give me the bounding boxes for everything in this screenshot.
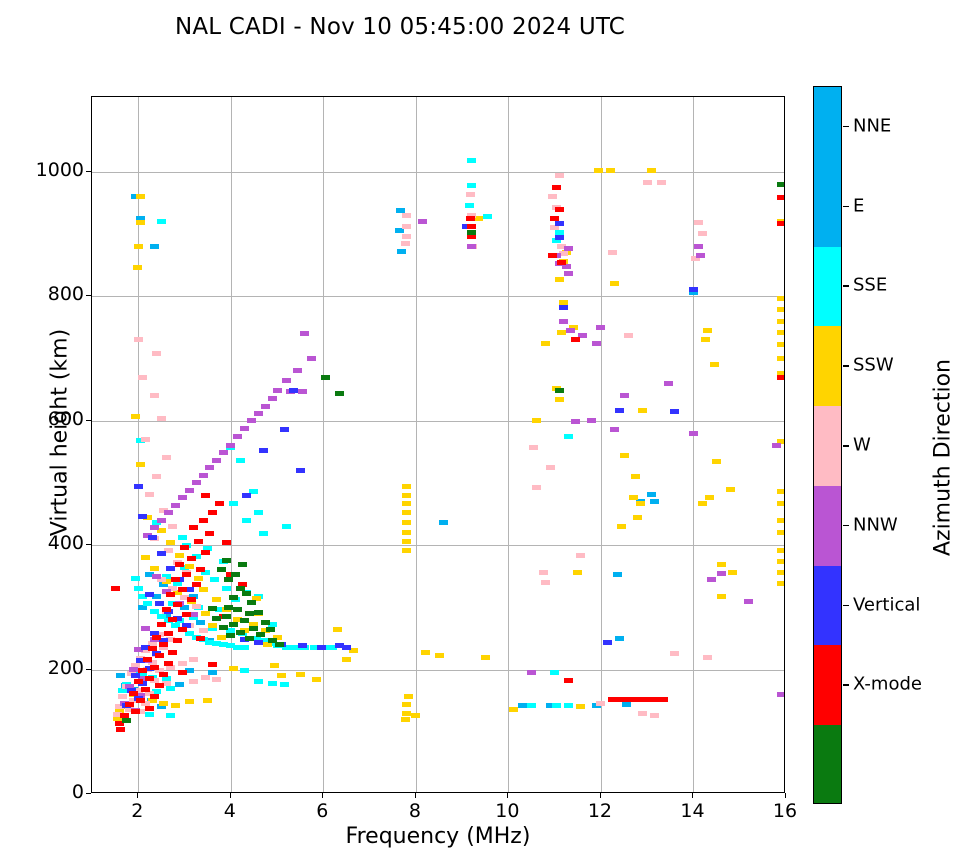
data-point [467, 224, 476, 229]
data-point [548, 253, 557, 258]
data-point [670, 651, 679, 656]
data-point [552, 185, 561, 190]
data-point [222, 614, 231, 619]
data-point [555, 235, 564, 240]
data-point [615, 636, 624, 641]
data-point [275, 642, 284, 647]
data-point [698, 501, 707, 506]
data-point [134, 484, 143, 489]
data-point [707, 577, 716, 582]
data-point [205, 531, 214, 536]
data-point [233, 607, 242, 612]
data-point [772, 443, 781, 448]
data-point [596, 701, 605, 706]
data-point [192, 582, 201, 587]
gridline-horizontal [92, 172, 784, 173]
data-point [659, 697, 668, 702]
data-point [240, 668, 249, 673]
x-axis-tick [137, 793, 138, 798]
data-point [622, 702, 631, 707]
data-point [249, 626, 258, 631]
data-point [606, 168, 615, 173]
data-point [541, 580, 550, 585]
data-point [208, 510, 217, 515]
data-point [155, 601, 164, 606]
data-point [201, 675, 210, 680]
data-point [224, 605, 233, 610]
colorbar-label-e: E [853, 195, 864, 216]
data-point [224, 577, 233, 582]
data-point [145, 592, 154, 597]
data-point [744, 599, 753, 604]
data-point [131, 709, 140, 714]
data-point [166, 540, 175, 545]
data-point [231, 572, 240, 577]
data-point [555, 397, 564, 402]
data-point [166, 713, 175, 718]
data-point [131, 414, 140, 419]
data-point [229, 622, 238, 627]
data-point [439, 520, 448, 525]
data-point [157, 614, 166, 619]
x-axis-tick-label: 12 [570, 800, 630, 822]
colorbar-label-nnw: NNW [853, 514, 898, 535]
x-axis-tick-label: 2 [107, 800, 167, 822]
data-point [136, 220, 145, 225]
data-point [150, 566, 159, 571]
data-point [159, 642, 168, 647]
data-point [576, 553, 585, 558]
data-point [701, 337, 710, 342]
data-point [148, 646, 157, 651]
data-point [312, 677, 321, 682]
data-point [175, 562, 184, 567]
data-point [564, 678, 573, 683]
data-point [254, 640, 263, 645]
data-point [145, 712, 154, 717]
data-point [212, 597, 221, 602]
data-point [182, 612, 191, 617]
colorbar-tick [843, 684, 849, 686]
data-point [617, 524, 626, 529]
colorbar-label-x-mode: X-mode [853, 674, 922, 695]
data-point [178, 670, 187, 675]
data-point [397, 249, 406, 254]
data-point [150, 665, 159, 670]
colorbar-segment [814, 406, 841, 486]
data-point [483, 214, 492, 219]
data-point [777, 570, 784, 575]
data-point [187, 597, 196, 602]
data-point [266, 627, 275, 632]
colorbar-segment [814, 247, 841, 327]
data-point [559, 319, 568, 324]
data-point [215, 501, 224, 506]
x-axis-tick-label: 8 [385, 800, 445, 822]
colorbar[interactable] [813, 86, 842, 804]
colorbar-label-sse: SSE [853, 275, 887, 296]
data-point [116, 673, 125, 678]
data-point [229, 501, 238, 506]
data-point [638, 711, 647, 716]
data-point [118, 694, 127, 699]
data-point [615, 408, 624, 413]
data-point [189, 679, 198, 684]
data-point [168, 524, 177, 529]
data-point [509, 707, 518, 712]
data-point [173, 602, 182, 607]
data-point [550, 670, 559, 675]
data-point [268, 396, 277, 401]
data-point [282, 378, 291, 383]
data-point [143, 657, 152, 662]
y-axis-tick-label: 0 [0, 781, 84, 803]
data-point [664, 381, 673, 386]
data-point [728, 570, 737, 575]
data-point [777, 489, 784, 494]
data-point [136, 462, 145, 467]
data-point [166, 686, 175, 691]
data-point [647, 492, 656, 497]
data-point [401, 717, 410, 722]
data-point [189, 525, 198, 530]
data-point [402, 484, 411, 489]
data-point [138, 375, 147, 380]
colorbar-tick [843, 525, 849, 527]
data-point [555, 277, 564, 282]
data-point [298, 643, 307, 648]
data-point [201, 550, 210, 555]
plot-canvas [92, 97, 784, 792]
data-point [777, 221, 784, 226]
gridline-vertical [601, 97, 602, 792]
data-point [333, 627, 342, 632]
data-point [134, 586, 143, 591]
gridline-horizontal [92, 545, 784, 546]
data-point [603, 640, 612, 645]
data-point [571, 419, 580, 424]
data-point [242, 591, 251, 596]
data-point [620, 393, 629, 398]
colorbar-tick [843, 206, 849, 208]
data-point [466, 192, 475, 197]
data-point [152, 574, 161, 579]
colorbar-label-w: W [853, 435, 871, 456]
data-point [145, 676, 154, 681]
data-point [254, 411, 263, 416]
data-point [777, 330, 784, 335]
data-point [238, 562, 247, 567]
data-point [465, 203, 474, 208]
data-point [321, 375, 330, 380]
data-point [777, 195, 784, 200]
data-point [125, 702, 134, 707]
y-axis-tick [86, 793, 91, 794]
data-point [219, 625, 228, 630]
data-point [638, 408, 647, 413]
data-point [199, 473, 208, 478]
data-point [192, 604, 201, 609]
data-point [777, 530, 784, 535]
x-axis-tick [600, 793, 601, 798]
data-point [222, 558, 231, 563]
data-point [610, 427, 619, 432]
data-point [208, 662, 217, 667]
data-point [222, 586, 231, 591]
data-point [254, 679, 263, 684]
data-point [256, 632, 265, 637]
data-point [240, 426, 249, 431]
data-point [546, 465, 555, 470]
x-axis-tick-label: 4 [200, 800, 260, 822]
data-point [226, 443, 235, 448]
data-point [777, 548, 784, 553]
x-axis-tick-label: 6 [292, 800, 352, 822]
data-point [467, 244, 476, 249]
data-point [402, 548, 411, 553]
data-point [259, 531, 268, 536]
data-point [466, 216, 475, 221]
data-point [229, 666, 238, 671]
data-point [208, 606, 217, 611]
data-point [421, 650, 430, 655]
data-point [111, 586, 120, 591]
x-axis-tick [692, 793, 693, 798]
data-point [159, 701, 168, 706]
data-point [317, 645, 326, 650]
data-point [539, 570, 548, 575]
data-point [694, 220, 703, 225]
data-point [650, 713, 659, 718]
data-point [199, 628, 208, 633]
data-point [717, 562, 726, 567]
data-point [712, 459, 721, 464]
data-point [247, 418, 256, 423]
data-point [608, 697, 617, 702]
data-point [689, 431, 698, 436]
data-point [196, 567, 205, 572]
data-point [777, 182, 784, 187]
data-point [624, 333, 633, 338]
data-point [201, 611, 210, 616]
y-axis-tick [86, 171, 91, 172]
gridline-horizontal [92, 421, 784, 422]
data-point [670, 409, 679, 414]
data-point [185, 699, 194, 704]
data-point [152, 351, 161, 356]
data-point [777, 356, 784, 361]
data-point [178, 587, 187, 592]
data-point [178, 535, 187, 540]
colorbar-tick [843, 126, 849, 128]
data-point [189, 657, 198, 662]
data-point [212, 677, 221, 682]
data-point [559, 305, 568, 310]
data-point [261, 404, 270, 409]
data-point [166, 592, 175, 597]
data-point [185, 488, 194, 493]
data-point [134, 679, 143, 684]
data-point [576, 704, 585, 709]
data-point [402, 234, 411, 239]
data-point [532, 485, 541, 490]
colorbar-label-ssw: SSW [853, 355, 894, 376]
data-point [145, 706, 154, 711]
data-point [527, 670, 536, 675]
data-point [168, 617, 177, 622]
data-point [705, 495, 714, 500]
data-point [289, 388, 298, 393]
data-point [159, 672, 168, 677]
data-point [777, 518, 784, 523]
data-point [217, 567, 226, 572]
data-point [247, 600, 256, 605]
data-point [150, 694, 159, 699]
data-point [168, 650, 177, 655]
x-axis-tick [230, 793, 231, 798]
data-point [164, 631, 173, 636]
data-point [157, 518, 166, 523]
data-point [122, 718, 131, 723]
data-point [148, 535, 157, 540]
data-point [194, 576, 203, 581]
data-point [245, 636, 254, 641]
data-point [212, 458, 221, 463]
data-point [548, 194, 557, 199]
data-point [171, 577, 180, 582]
data-point [157, 622, 166, 627]
data-point [178, 661, 187, 666]
data-point [212, 616, 221, 621]
data-point [131, 576, 140, 581]
data-point [131, 673, 140, 678]
colorbar-segment [814, 645, 841, 725]
data-point [777, 296, 784, 301]
data-point [467, 183, 476, 188]
data-point [552, 703, 561, 708]
data-point [270, 663, 279, 668]
data-point [219, 450, 228, 455]
colorbar-tick [843, 365, 849, 367]
data-point [182, 572, 191, 577]
data-point [342, 657, 351, 662]
colorbar-segment [814, 725, 841, 804]
data-point [620, 453, 629, 458]
colorbar-segment [814, 486, 841, 566]
plot-area[interactable] [91, 96, 785, 793]
colorbar-label-nne: NNE [853, 115, 891, 136]
data-point [777, 581, 784, 586]
data-point [777, 342, 784, 347]
data-point [203, 698, 212, 703]
colorbar-title: Azimuth Direction [931, 308, 956, 608]
data-point [185, 564, 194, 569]
data-point [259, 448, 268, 453]
data-point [236, 458, 245, 463]
colorbar-segment [814, 326, 841, 406]
data-point [610, 281, 619, 286]
data-point [194, 539, 203, 544]
data-point [467, 158, 476, 163]
data-point [261, 620, 270, 625]
data-point [293, 368, 302, 373]
data-point [141, 437, 150, 442]
data-point [411, 713, 420, 718]
data-point [647, 168, 656, 173]
y-axis-tick [86, 420, 91, 421]
data-point [402, 213, 411, 218]
data-point [555, 173, 564, 178]
data-point [208, 623, 217, 628]
data-point [550, 216, 559, 221]
data-point [404, 694, 413, 699]
data-point [710, 362, 719, 367]
data-point [717, 594, 726, 599]
data-point [134, 244, 143, 249]
data-point [152, 635, 161, 640]
data-point [650, 499, 659, 504]
data-point [418, 219, 427, 224]
data-point [532, 418, 541, 423]
ionogram-figure: NAL CADI - Nov 10 05:45:00 2024 UTC 2468… [0, 0, 958, 857]
data-point [402, 539, 411, 544]
data-point [136, 194, 145, 199]
data-point [643, 180, 652, 185]
x-axis-tick [322, 793, 323, 798]
data-point [157, 416, 166, 421]
data-point [273, 388, 282, 393]
data-point [541, 341, 550, 346]
data-point [633, 515, 642, 520]
colorbar-segment [814, 566, 841, 646]
data-point [178, 495, 187, 500]
data-point [199, 587, 208, 592]
data-point [242, 493, 251, 498]
data-point [162, 607, 171, 612]
data-point [150, 244, 159, 249]
data-point [129, 691, 138, 696]
data-point [777, 692, 784, 697]
data-point [555, 207, 564, 212]
data-point [157, 551, 166, 556]
data-point [631, 474, 640, 479]
data-point [777, 319, 784, 324]
data-point [573, 570, 582, 575]
gridline-vertical [693, 97, 694, 792]
data-point [155, 653, 164, 658]
colorbar-segment [814, 167, 841, 247]
data-point [435, 653, 444, 658]
data-point [242, 518, 251, 523]
colorbar-tick [843, 445, 849, 447]
data-point [178, 627, 187, 632]
data-point [166, 566, 175, 571]
data-point [136, 698, 145, 703]
colorbar-tick [843, 605, 849, 607]
data-point [726, 487, 735, 492]
data-point [402, 530, 411, 535]
data-point [280, 682, 289, 687]
data-point [402, 510, 411, 515]
data-point [268, 681, 277, 686]
y-axis-tick [86, 295, 91, 296]
data-point [395, 228, 404, 233]
data-point [129, 667, 138, 672]
data-point [150, 525, 159, 530]
data-point [254, 610, 263, 615]
data-point [696, 253, 705, 258]
data-point [777, 375, 784, 380]
